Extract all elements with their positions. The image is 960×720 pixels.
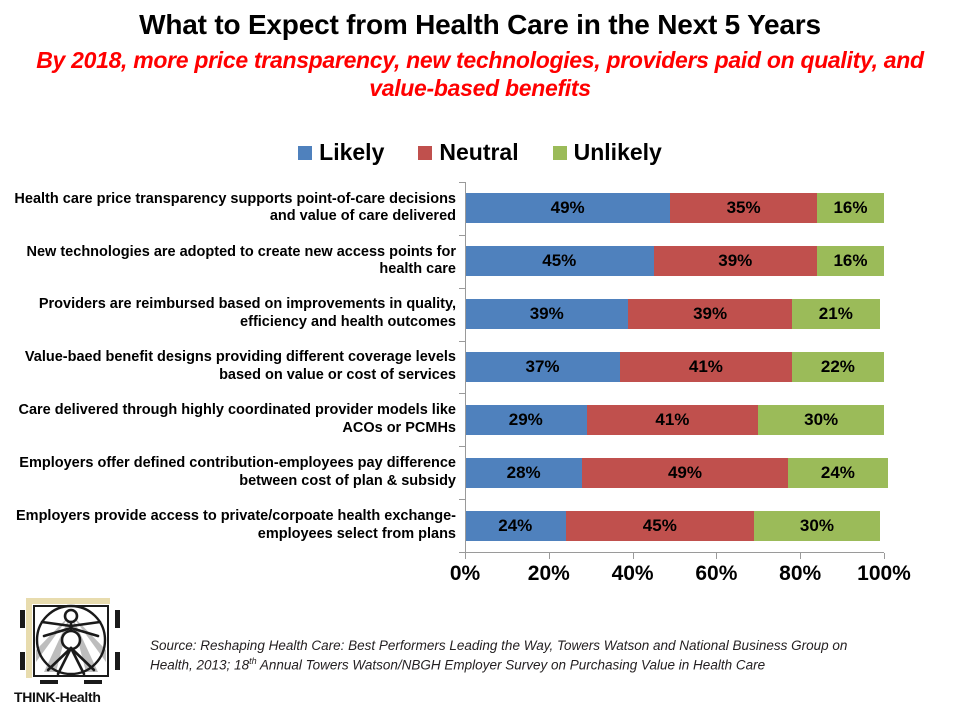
think-health-logo: THINK-Health <box>12 592 132 714</box>
y-tick <box>459 288 465 289</box>
slide-canvas: What to Expect from Health Care in the N… <box>0 0 960 720</box>
legend-label: Neutral <box>439 141 518 164</box>
x-tick-label: 60% <box>695 562 737 586</box>
x-tick <box>633 553 634 559</box>
stacked-bar: 39%39%21% <box>465 299 884 329</box>
x-axis-line <box>465 552 884 553</box>
bar-segment-neutral[interactable]: 49% <box>582 458 787 488</box>
chart-row: Employers provide access to private/corp… <box>0 499 960 552</box>
y-tick <box>459 446 465 447</box>
y-tick <box>459 235 465 236</box>
y-tick <box>459 393 465 394</box>
legend-swatch-icon <box>553 146 567 160</box>
bar-segment-likely[interactable]: 24% <box>465 511 566 541</box>
x-axis-labels: 0%20%40%60%80%100% <box>0 562 960 592</box>
page-subtitle: By 2018, more price transparency, new te… <box>0 46 960 102</box>
bar-segment-likely[interactable]: 37% <box>465 352 620 382</box>
logo-label: THINK-Health <box>14 689 132 705</box>
bar-track: 37%41%22% <box>465 341 884 394</box>
legend-swatch-icon <box>418 146 432 160</box>
bar-segment-likely[interactable]: 29% <box>465 405 587 435</box>
category-label: Providers are reimbursed based on improv… <box>0 296 465 331</box>
legend-label: Likely <box>319 141 384 164</box>
category-label: Health care price transparency supports … <box>0 191 465 226</box>
legend-swatch-icon <box>298 146 312 160</box>
category-label: Care delivered through highly coordinate… <box>0 402 465 437</box>
category-label: New technologies are adopted to create n… <box>0 244 465 279</box>
x-tick <box>800 553 801 559</box>
x-tick-label: 80% <box>779 562 821 586</box>
legend-label: Unlikely <box>574 141 662 164</box>
chart-row: Health care price transparency supports … <box>0 182 960 235</box>
bar-segment-unlikely[interactable]: 24% <box>788 458 889 488</box>
bar-segment-likely[interactable]: 45% <box>465 246 654 276</box>
bar-track: 49%35%16% <box>465 182 884 235</box>
x-tick-label: 40% <box>612 562 654 586</box>
x-tick-label: 100% <box>857 562 911 586</box>
stacked-bar: 24%45%30% <box>465 511 884 541</box>
source-note: Source: Reshaping Health Care: Best Perf… <box>150 636 880 675</box>
bar-segment-neutral[interactable]: 41% <box>587 405 759 435</box>
chart-row: Care delivered through highly coordinate… <box>0 393 960 446</box>
stacked-bar: 49%35%16% <box>465 193 884 223</box>
x-tick <box>716 553 717 559</box>
bar-segment-unlikely[interactable]: 30% <box>758 405 884 435</box>
bar-segment-likely[interactable]: 28% <box>465 458 582 488</box>
bar-segment-neutral[interactable]: 41% <box>620 352 792 382</box>
bar-track: 29%41%30% <box>465 393 884 446</box>
y-tick <box>459 499 465 500</box>
page-title: What to Expect from Health Care in the N… <box>0 8 960 41</box>
chart-row: Employers offer defined contribution-emp… <box>0 446 960 499</box>
bar-segment-unlikely[interactable]: 16% <box>817 193 884 223</box>
chart-row: Value-baed benefit designs providing dif… <box>0 341 960 394</box>
bar-segment-neutral[interactable]: 39% <box>628 299 791 329</box>
x-tick <box>465 553 466 559</box>
legend-item-unlikely[interactable]: Unlikely <box>553 141 662 164</box>
x-tick-label: 0% <box>450 562 480 586</box>
bar-segment-likely[interactable]: 49% <box>465 193 670 223</box>
y-tick <box>459 341 465 342</box>
y-axis-line <box>465 182 466 552</box>
stacked-bar: 29%41%30% <box>465 405 884 435</box>
category-label: Value-baed benefit designs providing dif… <box>0 349 465 384</box>
bar-track: 28%49%24% <box>465 446 884 499</box>
x-tick <box>549 553 550 559</box>
x-tick-label: 20% <box>528 562 570 586</box>
chart-row: Providers are reimbursed based on improv… <box>0 288 960 341</box>
chart-row: New technologies are adopted to create n… <box>0 235 960 288</box>
source-superscript: th <box>249 656 257 666</box>
x-tick <box>884 553 885 559</box>
stacked-bar: 45%39%16% <box>465 246 884 276</box>
bar-track: 24%45%30% <box>465 499 884 552</box>
stacked-bar: 37%41%22% <box>465 352 884 382</box>
bar-track: 39%39%21% <box>465 288 884 341</box>
stacked-bar: 28%49%24% <box>465 458 884 488</box>
bar-segment-unlikely[interactable]: 21% <box>792 299 880 329</box>
source-text-part2: Annual Towers Watson/NBGH Employer Surve… <box>257 658 766 673</box>
bar-segment-neutral[interactable]: 35% <box>670 193 817 223</box>
legend-item-neutral[interactable]: Neutral <box>418 141 518 164</box>
vitruvian-man-icon <box>18 592 122 688</box>
chart-legend: LikelyNeutralUnlikely <box>0 141 960 164</box>
bar-segment-unlikely[interactable]: 30% <box>754 511 880 541</box>
bar-segment-likely[interactable]: 39% <box>465 299 628 329</box>
bar-segment-unlikely[interactable]: 16% <box>817 246 884 276</box>
bar-segment-unlikely[interactable]: 22% <box>792 352 884 382</box>
chart-rows: Health care price transparency supports … <box>0 182 960 552</box>
legend-item-likely[interactable]: Likely <box>298 141 384 164</box>
bar-segment-neutral[interactable]: 39% <box>654 246 817 276</box>
stacked-bar-chart: Health care price transparency supports … <box>0 182 960 562</box>
category-label: Employers offer defined contribution-emp… <box>0 455 465 490</box>
bar-segment-neutral[interactable]: 45% <box>566 511 755 541</box>
y-tick <box>459 182 465 183</box>
bar-track: 45%39%16% <box>465 235 884 288</box>
category-label: Employers provide access to private/corp… <box>0 508 465 543</box>
title-block: What to Expect from Health Care in the N… <box>0 8 960 102</box>
